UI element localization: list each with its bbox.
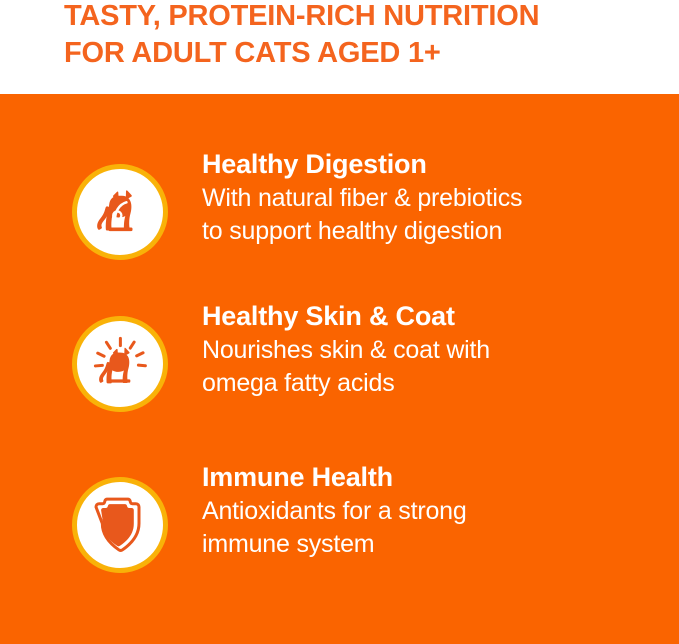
benefit-description: With natural fiber & prebiotics to suppo…	[202, 182, 662, 248]
cat-digestion-icon	[89, 181, 151, 243]
benefit-description-line-1: Antioxidants for a strong	[202, 495, 662, 528]
benefit-description-line-1: Nourishes skin & coat with	[202, 334, 662, 367]
shield-icon	[91, 495, 149, 555]
benefit-text-block: Healthy Skin & Coat Nourishes skin & coa…	[202, 300, 662, 400]
benefit-item: Immune Health Antioxidants for a strong …	[0, 451, 679, 601]
benefit-icon-badge	[72, 316, 168, 412]
benefit-description-line-2: omega fatty acids	[202, 367, 662, 400]
benefit-title: Healthy Skin & Coat	[202, 300, 662, 333]
header-banner: TASTY, PROTEIN-RICH NUTRITION FOR ADULT …	[0, 0, 679, 94]
benefit-title: Healthy Digestion	[202, 148, 662, 181]
benefit-icon-badge	[72, 164, 168, 260]
benefit-text-block: Healthy Digestion With natural fiber & p…	[202, 148, 662, 248]
benefit-text-block: Immune Health Antioxidants for a strong …	[202, 461, 662, 561]
benefit-description: Nourishes skin & coat with omega fatty a…	[202, 334, 662, 400]
product-benefits-panel: TASTY, PROTEIN-RICH NUTRITION FOR ADULT …	[0, 0, 679, 644]
benefit-title: Immune Health	[202, 461, 662, 494]
benefit-item: Healthy Digestion With natural fiber & p…	[0, 138, 679, 288]
benefit-description-line-2: to support healthy digestion	[202, 215, 662, 248]
header-title-line-1: TASTY, PROTEIN-RICH NUTRITION	[64, 0, 679, 35]
benefit-description-line-2: immune system	[202, 528, 662, 561]
benefit-item: Healthy Skin & Coat Nourishes skin & coa…	[0, 290, 679, 440]
benefit-icon-badge	[72, 477, 168, 573]
header-title-line-2: FOR ADULT CATS AGED 1+	[64, 35, 679, 72]
benefit-description-line-1: With natural fiber & prebiotics	[202, 182, 662, 215]
benefit-description: Antioxidants for a strong immune system	[202, 495, 662, 561]
benefits-section: Healthy Digestion With natural fiber & p…	[0, 94, 679, 644]
cat-shine-icon	[89, 333, 151, 395]
